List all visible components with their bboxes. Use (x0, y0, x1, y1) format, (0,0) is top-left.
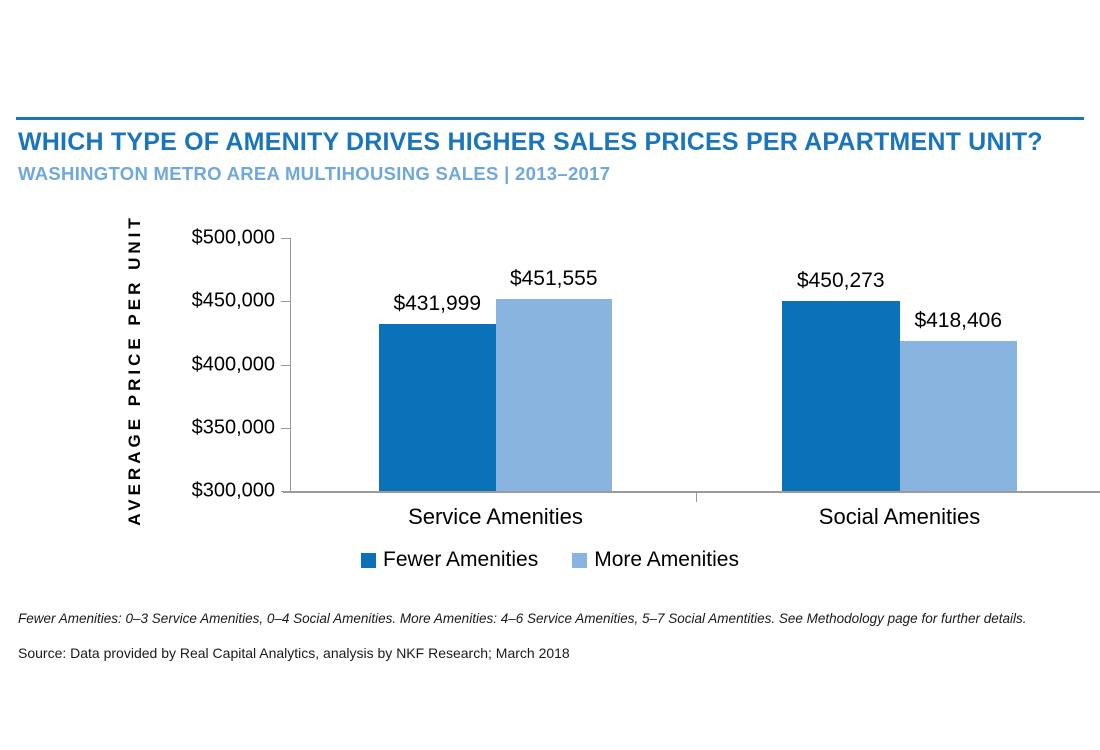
bar (496, 299, 613, 491)
legend-swatch-icon (361, 553, 376, 568)
legend-label: Fewer Amenities (383, 548, 538, 572)
legend-label: More Amenities (594, 548, 739, 572)
methodology-footnote: Fewer Amenities: 0–3 Service Amenities, … (18, 611, 1027, 626)
x-axis-category-label: Social Amenities (819, 504, 980, 530)
bar (782, 301, 900, 491)
y-axis-tick-mark (281, 428, 291, 429)
bar (900, 341, 1018, 491)
bar-chart: AVERAGE PRICE PER UNIT $500,000$450,000$… (0, 0, 1100, 600)
bar-value-label: $451,555 (510, 267, 598, 291)
x-axis-category-label: Service Amenities (408, 504, 583, 530)
legend-item[interactable]: Fewer Amenities (361, 548, 538, 572)
legend-item[interactable]: More Amenities (572, 548, 739, 572)
bar-value-label: $450,273 (797, 269, 885, 293)
bar-value-label: $431,999 (393, 292, 481, 316)
chart-legend: Fewer AmenitiesMore Amenities (0, 548, 1100, 572)
x-axis-group-divider-tick (696, 491, 697, 502)
y-axis-tick-mark (281, 491, 291, 492)
plot-area: $431,999$451,555$450,273$418,406 (0, 0, 1100, 492)
bar-value-label: $418,406 (914, 309, 1002, 333)
y-axis-tick-mark (281, 365, 291, 366)
y-axis-tick-mark (281, 238, 291, 239)
source-note: Source: Data provided by Real Capital An… (18, 645, 570, 661)
legend-swatch-icon (572, 553, 587, 568)
y-axis-tick-mark (281, 301, 291, 302)
bar (379, 324, 496, 491)
